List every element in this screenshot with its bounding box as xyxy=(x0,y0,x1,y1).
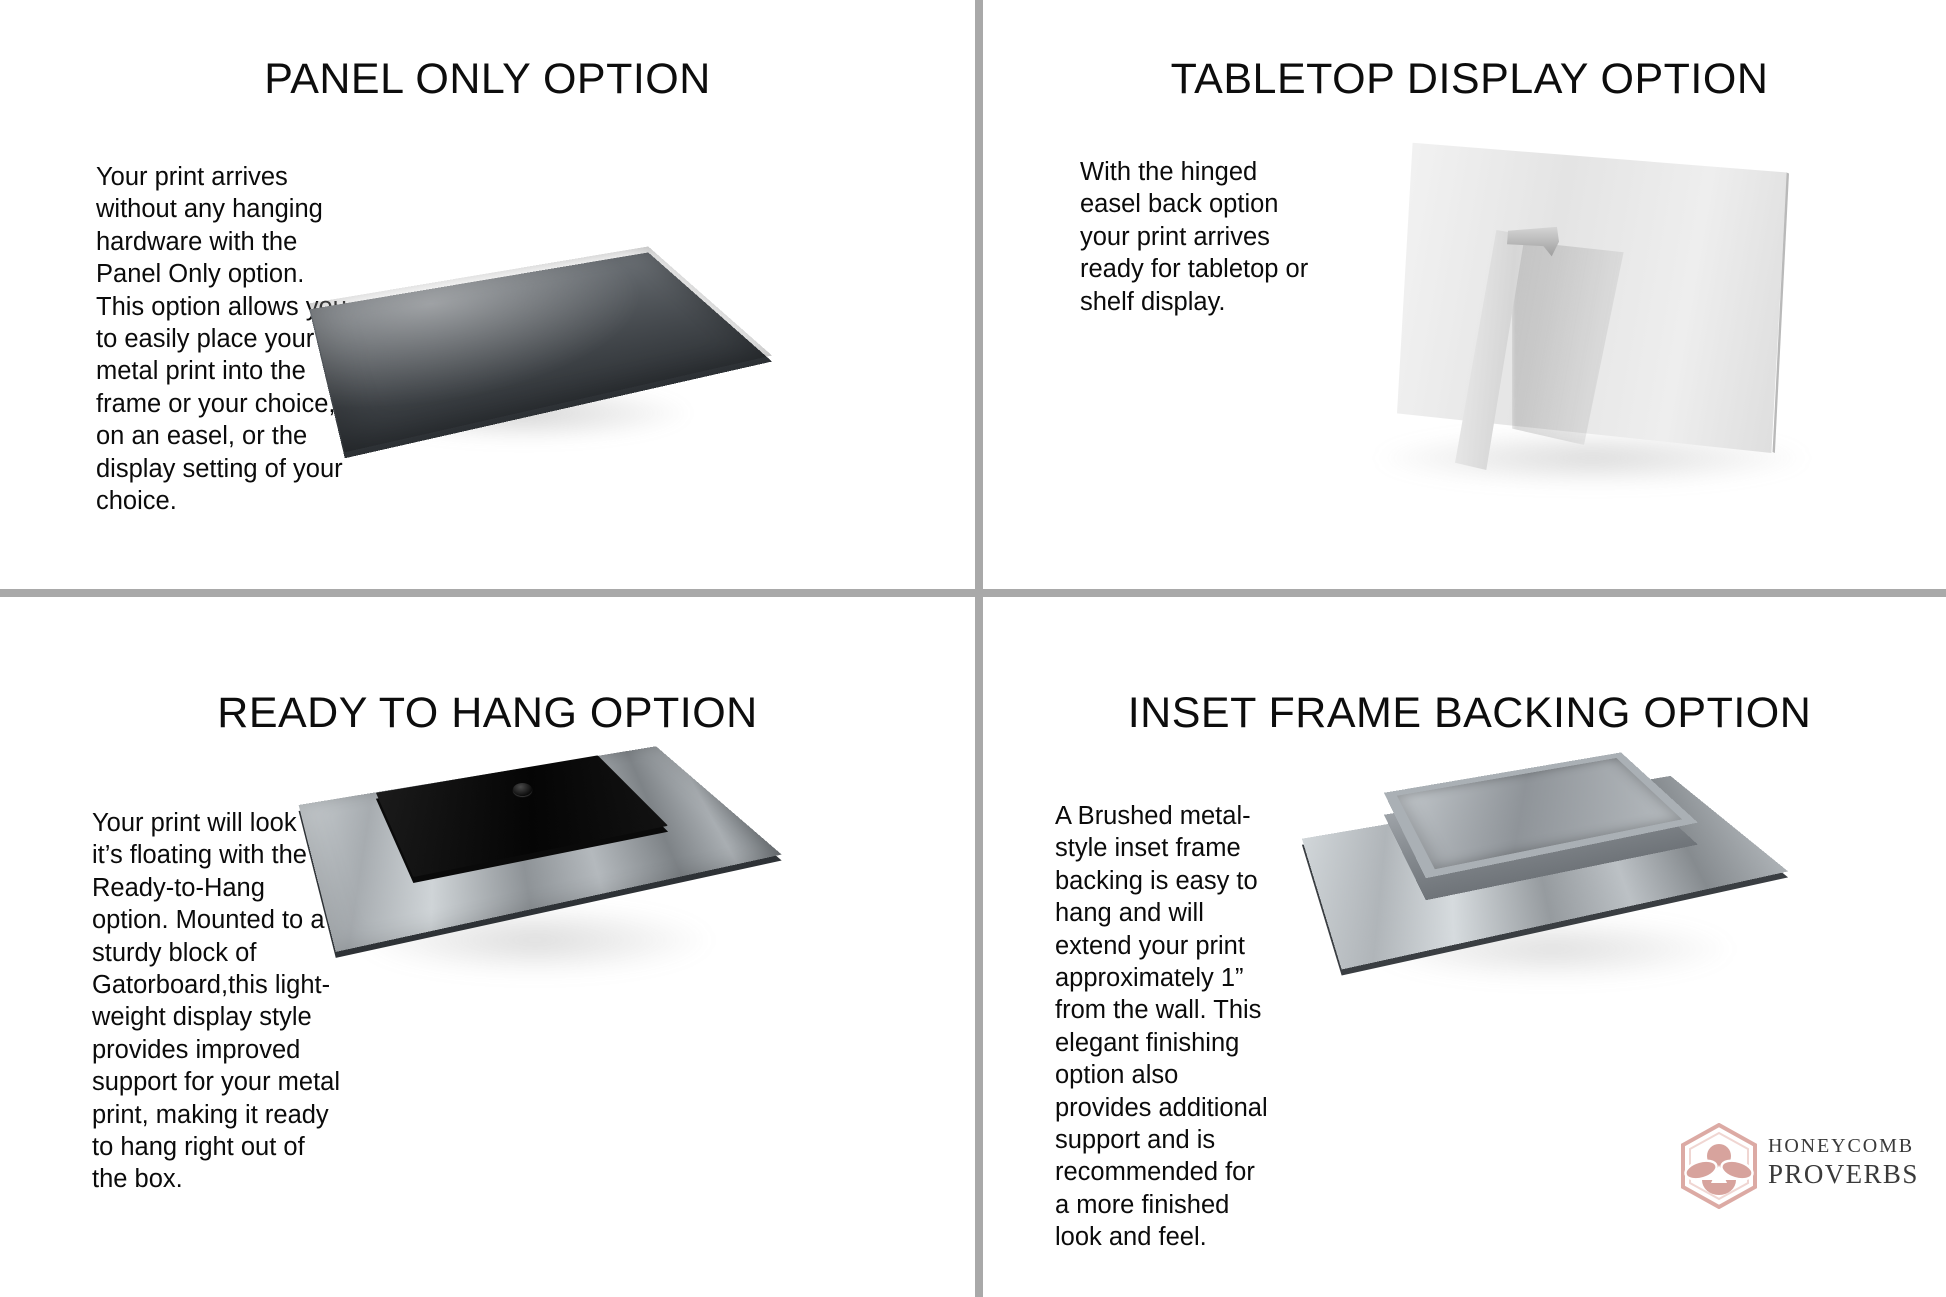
quadrant-tabletop-display: TABLETOP DISPLAY OPTION With the hinged … xyxy=(982,0,1946,590)
panel-only-title: PANEL ONLY OPTION xyxy=(0,55,975,104)
rth-keyhole-hanger xyxy=(513,783,532,796)
logo-line-proverbs: PROVERBS xyxy=(1768,1159,1919,1190)
hinged-easel-back-photo xyxy=(1337,95,1897,525)
inset-frame-backing-photo xyxy=(1312,717,1812,1017)
poster-canvas: PANEL ONLY OPTION Your print arrives wit… xyxy=(0,0,1946,1297)
logo-wordmark: HONEYCOMB PROVERBS xyxy=(1768,1133,1919,1190)
logo-line-honeycomb: HONEYCOMB xyxy=(1768,1133,1919,1159)
inset-frame-backing-description: A Brushed metal-style inset frame backin… xyxy=(1055,800,1275,1254)
honeycomb-bee-hexagon-logo xyxy=(1680,1123,1758,1209)
tabletop-display-description: With the hinged easel back option your p… xyxy=(1080,156,1312,318)
quadrant-ready-to-hang: READY TO HANG OPTION Your print will loo… xyxy=(0,597,975,1297)
panel-only-description: Your print arrives without any hanging h… xyxy=(96,161,351,517)
bare-metal-panel-photo xyxy=(320,195,750,515)
quadrant-panel-only: PANEL ONLY OPTION Your print arrives wit… xyxy=(0,0,975,590)
horizontal-divider xyxy=(0,589,1946,597)
gatorboard-float-mount-photo xyxy=(300,683,770,1013)
brand-logo: HONEYCOMB PROVERBS xyxy=(1680,1123,1930,1211)
